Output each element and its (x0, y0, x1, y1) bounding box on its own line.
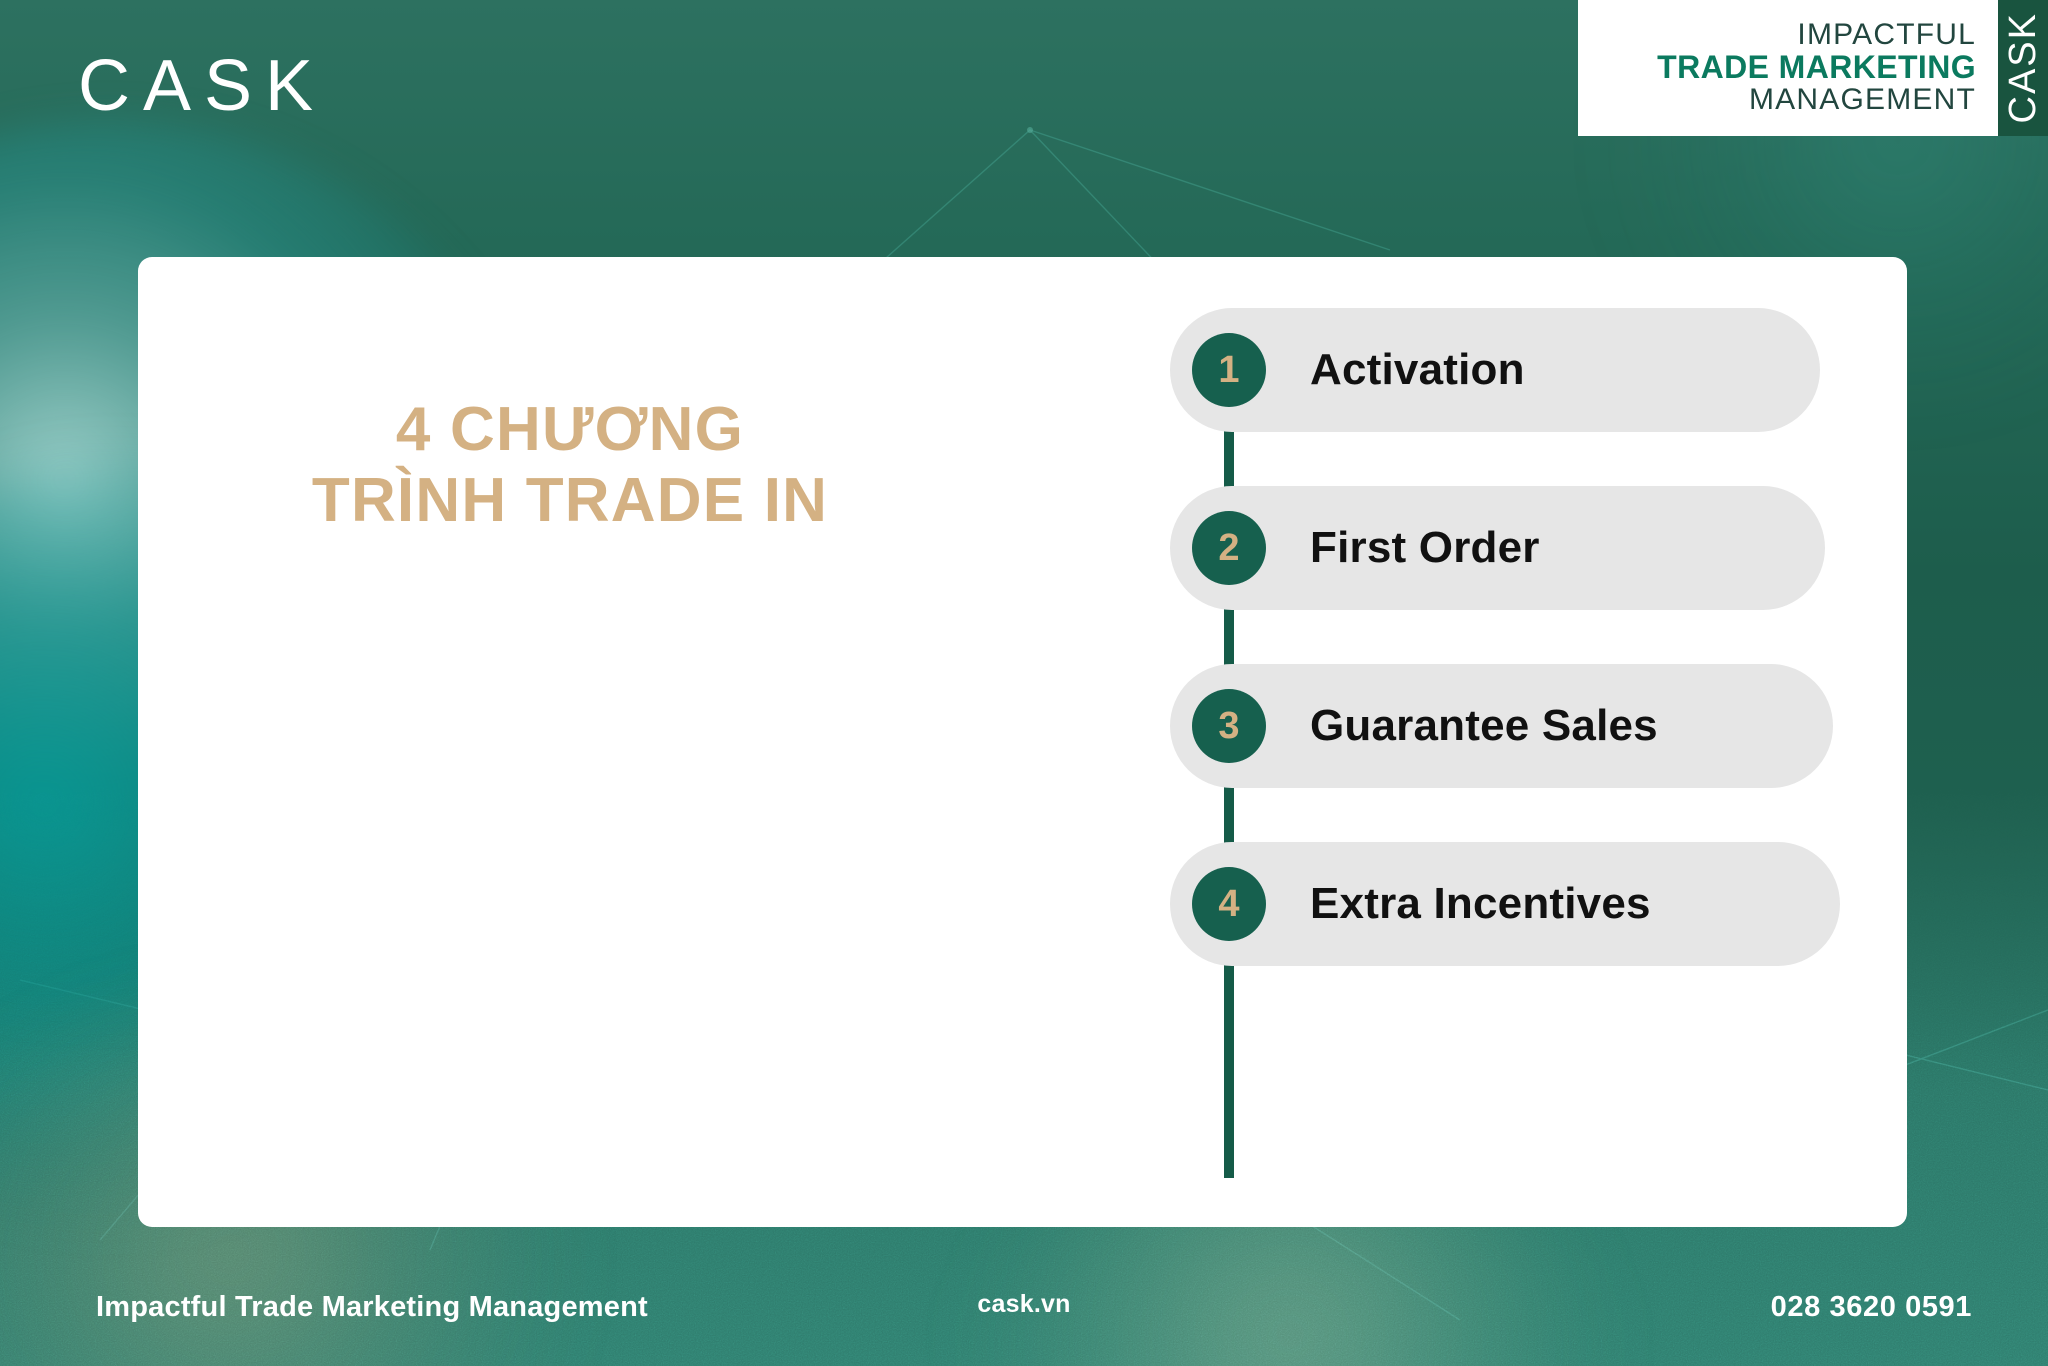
footer-website[interactable]: cask.vn (0, 1290, 2048, 1319)
step-number-badge-1: 1 (1192, 333, 1266, 407)
brand-wordmark: CASK (78, 50, 326, 122)
step-item-3[interactable]: 3 Guarantee Sales (1170, 664, 1833, 788)
page-title-line-1: 4 CHƯƠNG (150, 395, 990, 466)
step-item-1[interactable]: 1 Activation (1170, 308, 1820, 432)
step-number-badge-4: 4 (1192, 867, 1266, 941)
step-number-badge-2: 2 (1192, 511, 1266, 585)
logo-line-trade-marketing: TRADE MARKETING (1657, 51, 1976, 84)
logo-badge-side-tab-label: CASK (2004, 12, 2042, 123)
step-label-3: Guarantee Sales (1310, 701, 1658, 751)
page-title: 4 CHƯƠNG TRÌNH TRADE IN (150, 395, 990, 536)
step-item-2[interactable]: 2 First Order (1170, 486, 1825, 610)
step-label-1: Activation (1310, 345, 1525, 395)
step-number-badge-3: 3 (1192, 689, 1266, 763)
step-label-2: First Order (1310, 523, 1540, 573)
slide-canvas: CASK IMPACTFUL TRADE MARKETING MANAGEMEN… (0, 0, 2048, 1366)
logo-badge-text-block: IMPACTFUL TRADE MARKETING MANAGEMENT (1578, 0, 1998, 136)
steps-list: 1 Activation 2 First Order 3 Guarantee S… (1170, 308, 1870, 1020)
step-label-4: Extra Incentives (1310, 879, 1651, 929)
page-title-line-2: TRÌNH TRADE IN (150, 466, 990, 537)
footer-phone[interactable]: 028 3620 0591 (1771, 1291, 1972, 1324)
logo-badge-side-tab: CASK (1998, 0, 2048, 136)
logo-badge: IMPACTFUL TRADE MARKETING MANAGEMENT CAS… (1578, 0, 2048, 136)
logo-line-impactful: IMPACTFUL (1797, 20, 1976, 51)
logo-line-management: MANAGEMENT (1749, 84, 1976, 115)
step-item-4[interactable]: 4 Extra Incentives (1170, 842, 1840, 966)
